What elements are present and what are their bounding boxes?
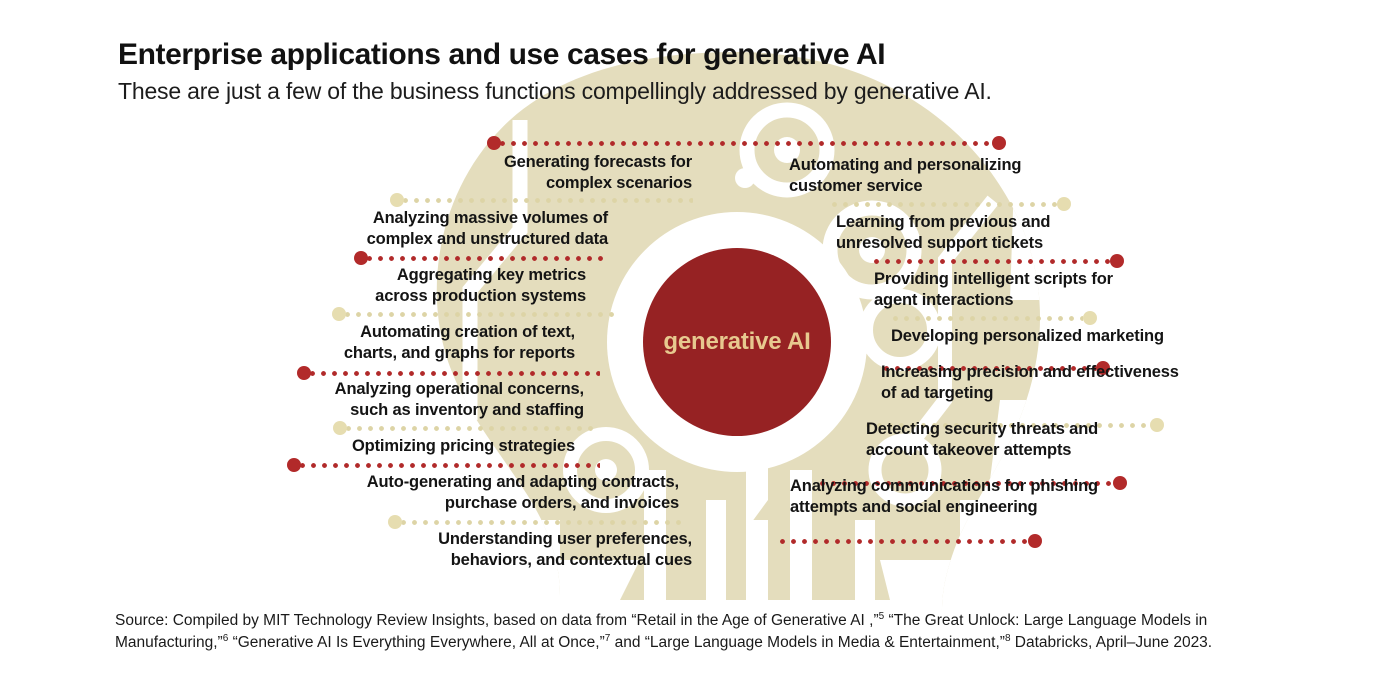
source-mid-3: and “Large Language Models in Media & En… <box>610 634 1005 651</box>
use-case-right-1-line1: Automating and personalizing <box>789 155 1209 176</box>
page-title: Enterprise applications and use cases fo… <box>118 38 1278 72</box>
use-case-right-7-line1: Analyzing communications for phishing <box>790 476 1210 497</box>
connector-line-right-2 <box>832 202 1057 207</box>
connector-line-top <box>500 141 998 146</box>
use-case-left-1-line2: complex scenarios <box>292 173 692 194</box>
header: Enterprise applications and use cases fo… <box>118 38 1278 105</box>
connector-line-left-2 <box>403 198 693 203</box>
connector-enddot-right-2 <box>1057 197 1071 211</box>
use-case-right-3-line2: agent interactions <box>874 290 1294 311</box>
use-case-left-5: Analyzing operational concerns, such as … <box>184 379 584 421</box>
use-case-right-7-line2: attempts and social engineering <box>790 497 1210 518</box>
use-case-right-4: Developing personalized marketing <box>891 326 1311 347</box>
use-case-right-3-line1: Providing intelligent scripts for <box>874 269 1294 290</box>
use-case-left-1-line1: Generating forecasts for <box>292 152 692 173</box>
use-case-right-1: Automating and personalizing customer se… <box>789 155 1209 197</box>
use-case-left-3: Aggregating key metrics across productio… <box>186 265 586 307</box>
connector-line-right-8 <box>780 539 1028 544</box>
use-case-right-3: Providing intelligent scripts for agent … <box>874 269 1294 311</box>
connector-enddot-left-6 <box>333 421 347 435</box>
use-case-left-2-line1: Analyzing massive volumes of <box>208 208 608 229</box>
use-case-left-8-line2: behaviors, and contextual cues <box>292 550 692 571</box>
use-case-right-5-line1: Increasing precision and effectiveness <box>881 362 1301 383</box>
use-case-left-7-line1: Auto-generating and adapting contracts, <box>279 472 679 493</box>
connector-enddot-right-8 <box>1028 534 1042 548</box>
use-case-left-2: Analyzing massive volumes of complex and… <box>208 208 608 250</box>
connector-enddot-left-1 <box>487 136 501 150</box>
connector-enddot-left-4 <box>332 307 346 321</box>
use-case-left-7-line2: purchase orders, and invoices <box>279 493 679 514</box>
use-case-right-6-line1: Detecting security threats and <box>866 419 1286 440</box>
connector-line-left-5 <box>310 371 600 376</box>
use-case-right-2-line1: Learning from previous and <box>836 212 1256 233</box>
connector-line-left-6 <box>346 426 596 431</box>
center-hub-generative-ai: generative AI <box>643 248 831 436</box>
connector-line-left-3 <box>367 256 607 261</box>
connector-enddot-left-3 <box>354 251 368 265</box>
connector-line-right-4 <box>893 316 1083 321</box>
connector-enddot-left-5 <box>297 366 311 380</box>
connector-enddot-right-4 <box>1083 311 1097 325</box>
use-case-left-3-line1: Aggregating key metrics <box>186 265 586 286</box>
source-suffix: Databricks, April–June 2023. <box>1011 634 1213 651</box>
connector-enddot-right-1 <box>992 136 1006 150</box>
use-case-left-8-line1: Understanding user preferences, <box>292 529 692 550</box>
use-case-right-1-line2: customer service <box>789 176 1209 197</box>
use-case-left-5-line1: Analyzing operational concerns, <box>184 379 584 400</box>
use-case-left-7: Auto-generating and adapting contracts, … <box>279 472 679 514</box>
use-case-left-1: Generating forecasts for complex scenari… <box>292 152 692 194</box>
use-case-left-4: Automating creation of text, charts, and… <box>175 322 575 364</box>
use-case-left-6: Optimizing pricing strategies <box>175 436 575 457</box>
use-case-left-5-line2: such as inventory and staffing <box>184 400 584 421</box>
connector-line-left-8 <box>401 520 681 525</box>
use-case-right-6-line2: account takeover attempts <box>866 440 1286 461</box>
connector-line-left-7 <box>300 463 600 468</box>
source-prefix: Source: Compiled by MIT Technology Revie… <box>115 612 879 629</box>
connector-enddot-left-7 <box>287 458 301 472</box>
use-case-right-5: Increasing precision and effectiveness o… <box>881 362 1301 404</box>
use-case-right-2-line2: unresolved support tickets <box>836 233 1256 254</box>
use-case-right-6: Detecting security threats and account t… <box>866 419 1286 461</box>
use-case-left-4-line2: charts, and graphs for reports <box>175 343 575 364</box>
infographic-root: Enterprise applications and use cases fo… <box>0 0 1398 696</box>
connector-line-left-4 <box>345 312 615 317</box>
use-case-right-4-line1: Developing personalized marketing <box>891 326 1311 347</box>
page-subtitle: These are just a few of the business fun… <box>118 78 1278 106</box>
use-case-right-7: Analyzing communications for phishing at… <box>790 476 1210 518</box>
center-hub-label: generative AI <box>663 328 810 356</box>
connector-enddot-left-8 <box>388 515 402 529</box>
use-case-left-3-line2: across production systems <box>186 286 586 307</box>
use-case-left-4-line1: Automating creation of text, <box>175 322 575 343</box>
connector-enddot-left-2 <box>390 193 404 207</box>
connector-enddot-right-3 <box>1110 254 1124 268</box>
use-case-left-6-line1: Optimizing pricing strategies <box>175 436 575 457</box>
connector-line-right-3 <box>874 259 1110 264</box>
use-case-left-2-line2: complex and unstructured data <box>208 229 608 250</box>
use-case-right-5-line2: of ad targeting <box>881 383 1301 404</box>
use-case-left-8: Understanding user preferences, behavior… <box>292 529 692 571</box>
source-footnote: Source: Compiled by MIT Technology Revie… <box>115 610 1265 654</box>
use-case-right-2: Learning from previous and unresolved su… <box>836 212 1256 254</box>
source-mid-2: “Generative AI Is Everything Everywhere,… <box>228 634 604 651</box>
